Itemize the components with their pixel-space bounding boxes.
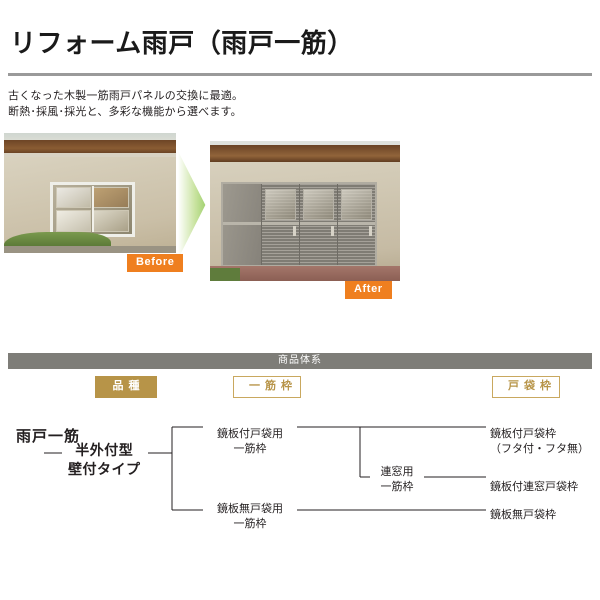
stucco-wall	[210, 162, 400, 281]
glass-pane	[56, 187, 91, 208]
tree-node-type-line1: 半外付型	[68, 441, 141, 460]
ground-strip	[4, 246, 176, 253]
panel-rail	[338, 222, 375, 225]
page-title: リフォーム雨戸（雨戸一筋）	[10, 30, 354, 56]
sliding-glass-door	[50, 182, 134, 237]
tree-node-result-1: 鏡板付戸袋枠 （フタ付・フタ無）	[490, 427, 589, 457]
tree-node-renso-line2: 一筋枠	[371, 480, 423, 495]
panel-rail	[300, 222, 337, 225]
tree-node-branch-2-line2: 一筋枠	[205, 517, 295, 532]
tree-node-type-line2: 壁付タイプ	[68, 460, 141, 479]
lead-description: 古くなった木製一筋雨戸パネルの交換に最適。 断熱･採風･採光と、多彩な機能から選…	[8, 88, 243, 120]
tree-node-type: 半外付型 壁付タイプ	[68, 441, 141, 479]
before-photo	[4, 133, 176, 253]
tree-node-result-1-line1: 鏡板付戸袋枠	[490, 427, 589, 442]
wooden-eave	[210, 145, 400, 163]
tree-node-renso: 連窓用 一筋枠	[371, 465, 423, 495]
panel-rail	[262, 222, 299, 225]
glass-pane	[93, 210, 128, 232]
product-system-header: 商品体系	[8, 353, 592, 369]
window-mullion	[92, 186, 94, 232]
tree-node-branch-1-line2: 一筋枠	[205, 442, 295, 457]
lead-line-1: 古くなった木製一筋雨戸パネルの交換に最適。	[8, 88, 243, 104]
shutter-panel	[262, 184, 300, 264]
louver-shutter-unit	[221, 182, 377, 266]
panel-rail	[223, 222, 260, 225]
tree-node-branch-2: 鏡板無戸袋用 一筋枠	[205, 502, 295, 532]
before-after-comparison: Before After	[0, 133, 600, 308]
lead-line-2: 断熱･採風･採光と、多彩な機能から選べます。	[8, 104, 243, 120]
before-scene-illustration	[4, 133, 176, 253]
product-hierarchy-diagram: 雨戸一筋 半外付型 壁付タイプ 鏡板付戸袋用 一筋枠 鏡板無戸袋用 一筋枠 連窓…	[0, 405, 600, 555]
tree-node-result-2: 鏡板付連窓戸袋枠	[490, 480, 578, 495]
tree-node-renso-line1: 連窓用	[371, 465, 423, 480]
glass-pane	[56, 210, 91, 232]
panel-glass	[341, 189, 372, 220]
after-scene-illustration	[210, 141, 400, 281]
tree-node-result-1-line2: （フタ付・フタ無）	[490, 442, 589, 457]
before-badge: Before	[127, 254, 183, 272]
tree-node-branch-2-line1: 鏡板無戸袋用	[205, 502, 295, 517]
shutter-panel	[300, 184, 338, 264]
tree-node-branch-1-line1: 鏡板付戸袋用	[205, 427, 295, 442]
panel-handle	[331, 226, 334, 236]
tree-node-result-3: 鏡板無戸袋枠	[490, 508, 556, 523]
tree-node-root: 雨戸一筋	[16, 427, 36, 446]
shutter-panel	[223, 184, 261, 264]
panel-glass	[303, 189, 334, 220]
category-label-hitosujiwaku: 一筋枠	[233, 376, 301, 398]
glass-pane	[93, 187, 128, 208]
after-badge: After	[345, 281, 392, 299]
panel-handle	[293, 226, 296, 236]
panel-handle	[369, 226, 372, 236]
category-label-tobukurowaku: 戸袋枠	[492, 376, 560, 398]
grass-patch	[210, 268, 240, 281]
tree-node-branch-1: 鏡板付戸袋用 一筋枠	[205, 427, 295, 457]
after-photo	[210, 141, 400, 281]
title-divider	[8, 73, 592, 76]
stucco-wall	[4, 157, 176, 253]
panel-glass	[265, 189, 296, 220]
shutter-panel	[338, 184, 375, 264]
category-label-hinshu: 品種	[95, 376, 157, 398]
